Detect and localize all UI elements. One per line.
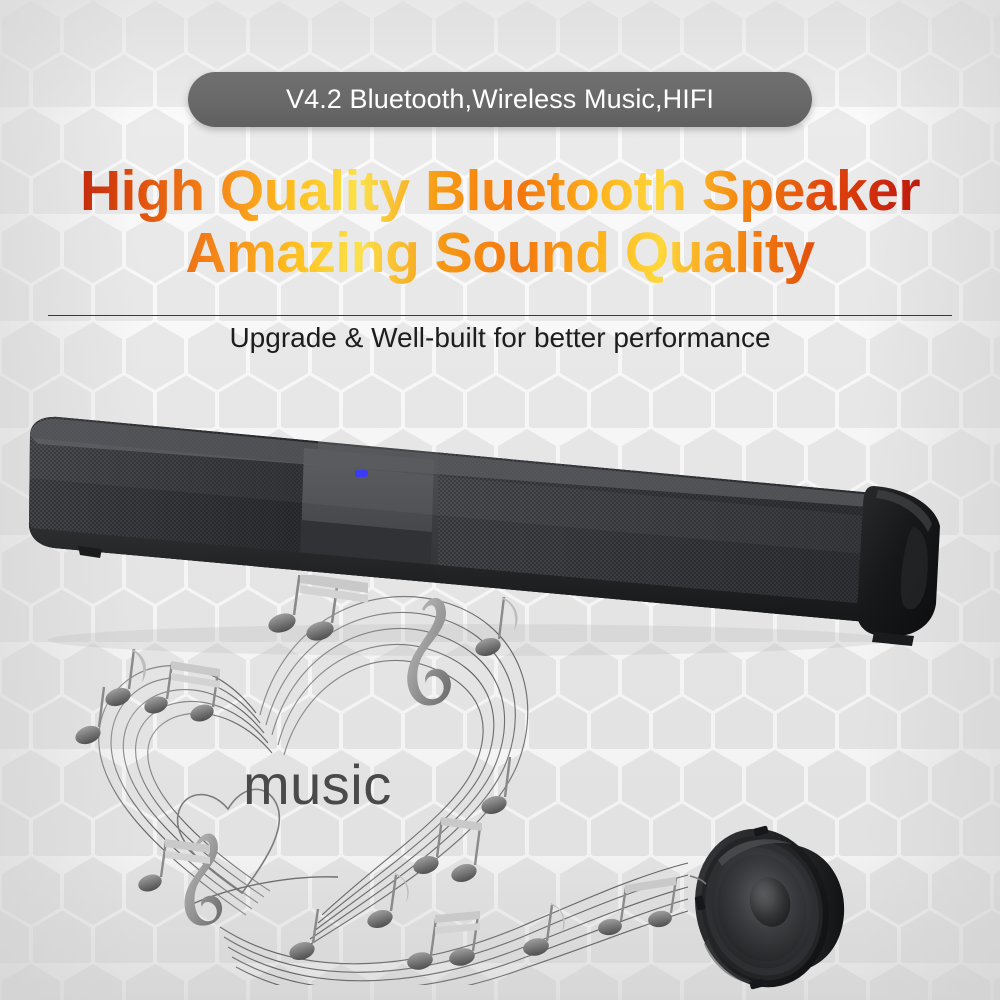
treble-clef-icon <box>407 598 451 706</box>
headline-line-2: Amazing Sound Quality <box>0 222 1000 284</box>
headline-block: High Quality Bluetooth Speaker Amazing S… <box>0 160 1000 284</box>
subtitle-text: Upgrade & Well-built for better performa… <box>0 322 1000 354</box>
product-advertisement-page: V4.2 Bluetooth,Wireless Music,HIFI High … <box>0 0 1000 1000</box>
headline-divider <box>48 315 952 316</box>
woofer-driver-image <box>688 818 878 1000</box>
feature-banner-text: V4.2 Bluetooth,Wireless Music,HIFI <box>286 84 714 115</box>
feature-banner-pill: V4.2 Bluetooth,Wireless Music,HIFI <box>188 72 812 127</box>
music-wordmark: music <box>243 752 392 817</box>
headline-line-1: High Quality Bluetooth Speaker <box>0 160 1000 222</box>
